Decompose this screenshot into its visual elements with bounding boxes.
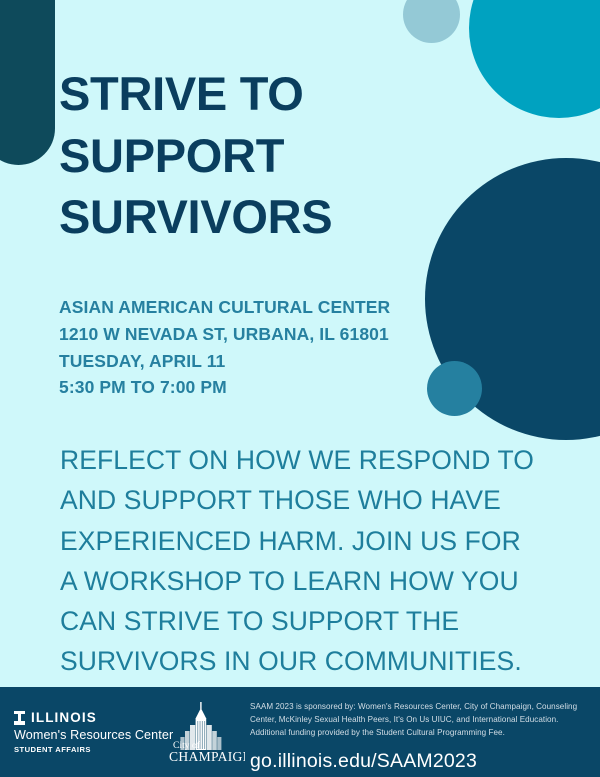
illinois-wordmark-label: ILLINOIS <box>31 710 97 725</box>
headline-line-2: SUPPORT <box>59 125 499 187</box>
event-venue: ASIAN AMERICAN CULTURAL CENTER <box>59 294 519 321</box>
event-date: TUESDAY, APRIL 11 <box>59 348 519 375</box>
event-time: 5:30 PM TO 7:00 PM <box>59 374 519 401</box>
description-line-2: AND SUPPORT THOSE WHO HAVE <box>60 480 580 520</box>
champaign-name-label: CHAMPAIGN <box>169 749 245 764</box>
page-title: STRIVE TO SUPPORT SURVIVORS <box>59 63 499 248</box>
event-url-link[interactable]: go.illinois.edu/SAAM2023 <box>250 750 590 773</box>
city-of-champaign-logo: City of CHAMPAIGN <box>157 700 245 768</box>
headline-line-3: SURVIVORS <box>59 186 499 248</box>
event-details: ASIAN AMERICAN CULTURAL CENTER 1210 W NE… <box>59 294 519 401</box>
description-line-6: SURVIVORS IN OUR COMMUNITIES. <box>60 641 580 681</box>
sponsor-line-3: Additional funding provided by the Stude… <box>250 726 590 739</box>
sponsor-line-2: Center, McKinley Sexual Health Peers, It… <box>250 713 590 726</box>
champaign-building-icon: City of CHAMPAIGN <box>157 700 245 768</box>
description-line-1: REFLECT ON HOW WE RESPOND TO <box>60 440 580 480</box>
description-line-3: EXPERIENCED HARM. JOIN US FOR <box>60 521 580 561</box>
womens-resources-center-label: Women's Resources Center <box>14 728 174 742</box>
headline-line-1: STRIVE TO <box>59 63 499 125</box>
event-poster: STRIVE TO SUPPORT SURVIVORS ASIAN AMERIC… <box>0 0 600 777</box>
event-address: 1210 W NEVADA ST, URBANA, IL 61801 <box>59 321 519 348</box>
sponsor-block: SAAM 2023 is sponsored by: Women's Resou… <box>250 700 590 773</box>
description-line-4: A WORKSHOP TO LEARN HOW YOU <box>60 561 580 601</box>
illinois-logo-row: ILLINOIS <box>14 710 174 725</box>
block-i-icon <box>14 711 25 725</box>
poster-content: STRIVE TO SUPPORT SURVIVORS ASIAN AMERIC… <box>0 0 600 687</box>
event-description: REFLECT ON HOW WE RESPOND TO AND SUPPORT… <box>60 440 580 682</box>
illinois-wrc-logo: ILLINOIS Women's Resources Center STUDEN… <box>14 710 174 754</box>
sponsor-credits: SAAM 2023 is sponsored by: Women's Resou… <box>250 700 590 739</box>
sponsor-line-1: SAAM 2023 is sponsored by: Women's Resou… <box>250 700 590 713</box>
description-line-5: CAN STRIVE TO SUPPORT THE <box>60 601 580 641</box>
student-affairs-label: STUDENT AFFAIRS <box>14 745 174 754</box>
